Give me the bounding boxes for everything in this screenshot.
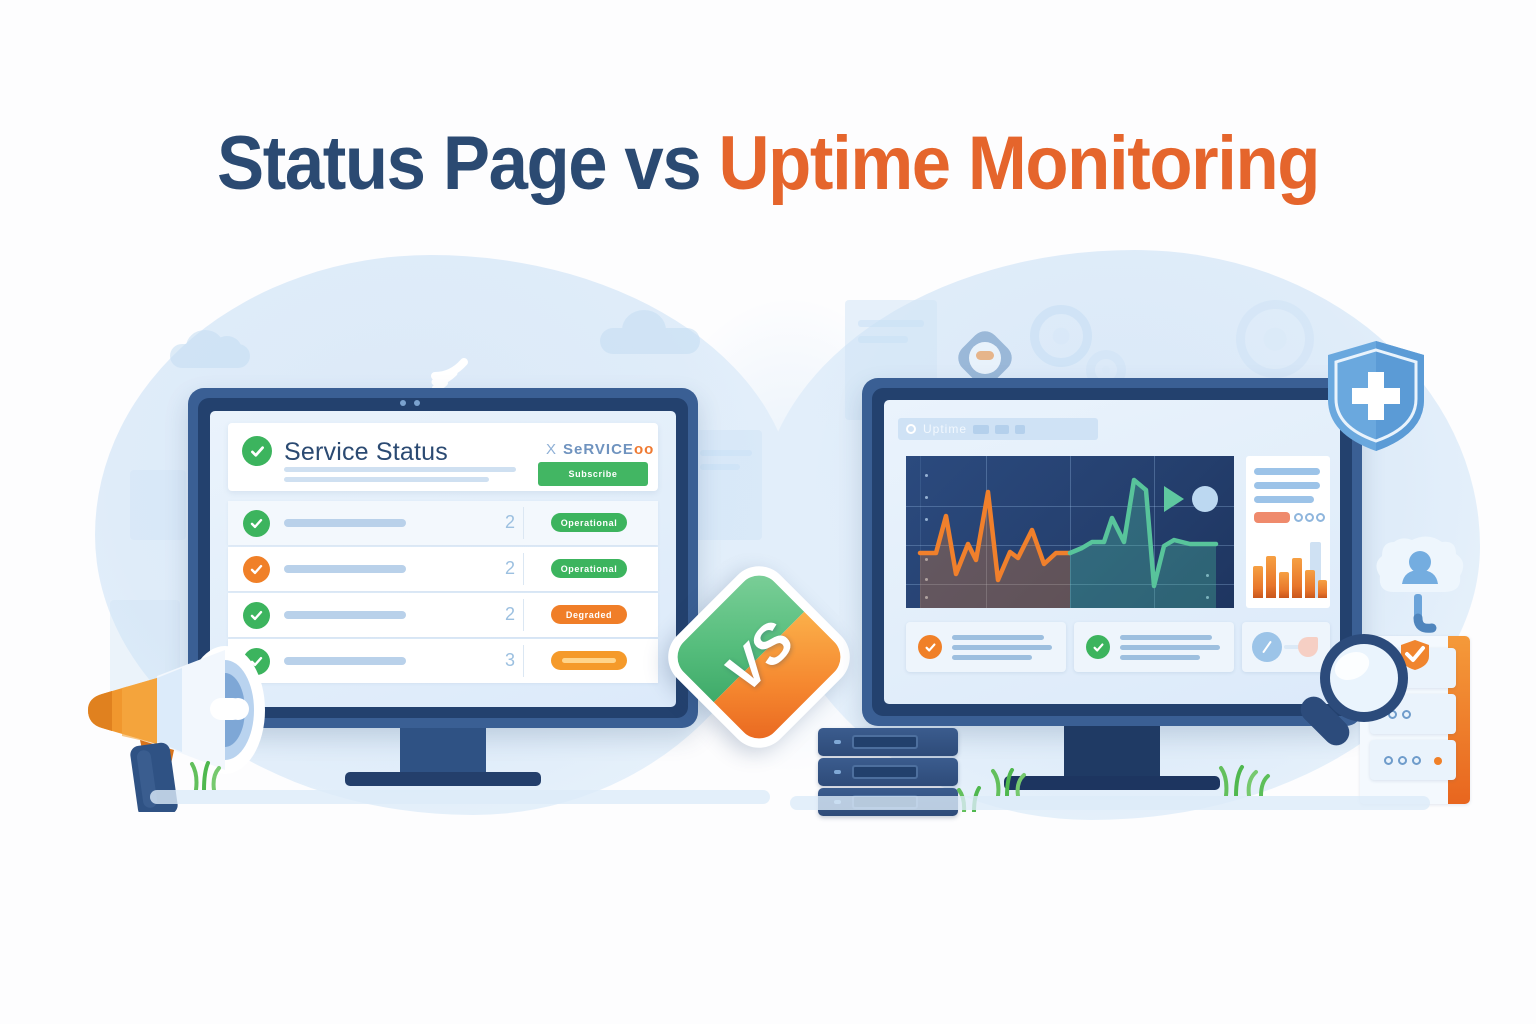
header-text-line [284, 477, 489, 482]
grass-decor [188, 760, 248, 790]
gear-icon [1236, 300, 1314, 378]
decor-square [130, 470, 186, 540]
row-divider [523, 553, 524, 585]
service-name-line [284, 611, 406, 619]
server-unit [818, 758, 958, 786]
mini-bar-chart-bar [1279, 572, 1289, 598]
dashboard-toolbar[interactable]: Uptime [898, 418, 1098, 440]
toolbar-segment [1015, 425, 1025, 434]
table-row[interactable]: 2 Operational [228, 501, 658, 545]
server-led [834, 770, 841, 774]
metric-card-lines [952, 635, 1052, 660]
subscribe-button[interactable]: Subscribe [538, 462, 648, 486]
server-slot [852, 765, 918, 779]
decor-line [858, 320, 924, 327]
status-badge: Operational [551, 513, 627, 532]
shield-health-icon [1324, 338, 1428, 454]
metric-card[interactable] [1074, 622, 1234, 672]
row-divider [523, 599, 524, 631]
monitor-neck [400, 728, 486, 774]
title-part-status-page: Status Page vs [217, 121, 719, 206]
row-metric: 2 [505, 604, 515, 625]
metric-card[interactable] [906, 622, 1066, 672]
sidebar-circle [1305, 513, 1314, 522]
metric-line [1120, 635, 1212, 640]
server-led [834, 740, 841, 744]
ground-band [150, 790, 770, 804]
server-slot [852, 735, 918, 749]
server-unit [818, 728, 958, 756]
gauge-needle [1262, 641, 1272, 654]
toolbar-label: Uptime [923, 422, 967, 436]
camera-dot [414, 400, 420, 406]
metric-card-lines [1120, 635, 1220, 660]
page-title: Status Page vs Uptime Monitoring [54, 120, 1482, 207]
play-triangle-icon[interactable] [1164, 486, 1184, 512]
sidebar-circle [1294, 513, 1303, 522]
toolbar-segment [973, 425, 989, 434]
service-name-line [284, 519, 406, 527]
service-status-card: Service Status XSeRVICEoo Subscribe [228, 423, 658, 491]
table-row[interactable]: 2 Degraded [228, 593, 658, 637]
cloud-icon [170, 330, 260, 368]
mini-bar-chart-bar [1253, 566, 1263, 598]
toolbar-segment [995, 425, 1009, 434]
service-status-title: Service Status [284, 438, 448, 467]
check-circle-orange-icon [918, 635, 942, 659]
illustration-canvas: Status Page vs Uptime Monitoring Service… [0, 0, 1536, 1024]
sidebar-circle [1316, 513, 1325, 522]
metric-line [952, 645, 1052, 650]
uptime-chart [906, 456, 1234, 608]
grass-decor [1216, 764, 1286, 796]
monitor-base [345, 772, 541, 786]
brand-name: SeRVICE [563, 441, 634, 458]
mini-bar-chart-bar [1305, 570, 1315, 598]
metric-line [952, 635, 1044, 640]
megaphone-icon [62, 632, 302, 812]
card-status-dot [1434, 757, 1442, 765]
badge-icon [962, 335, 1008, 381]
camera-dot [400, 400, 406, 406]
header-text-line [284, 467, 516, 472]
service-name-line [284, 565, 406, 573]
mini-bar-chart-bar [1292, 558, 1302, 598]
check-circle-green-icon [243, 602, 270, 629]
row-divider [523, 645, 524, 677]
row-metric: 2 [505, 558, 515, 579]
metric-line [1120, 645, 1220, 650]
service-brand-label: XSeRVICEoo [546, 441, 654, 458]
row-metric: 3 [505, 650, 515, 671]
check-circle-orange-icon [243, 556, 270, 583]
chart-sidebar-panel [1246, 456, 1330, 608]
mini-bar-chart-bar [1318, 580, 1327, 598]
cloud-icon [600, 310, 710, 354]
brand-x-mark: X [546, 441, 557, 458]
title-part-uptime-monitoring: Uptime Monitoring [719, 121, 1320, 206]
decor-line [858, 336, 908, 343]
check-circle-green-icon [1086, 635, 1110, 659]
chart-series-svg [906, 456, 1234, 608]
status-badge: Operational [551, 559, 627, 578]
table-row[interactable]: 2 Operational [228, 547, 658, 591]
gauge-icon [1252, 632, 1282, 662]
badge-progress [562, 658, 617, 663]
status-dot-icon [906, 424, 916, 434]
sidebar-alert-bar [1254, 512, 1290, 523]
check-circle-green-icon [243, 510, 270, 537]
row-metric: 2 [505, 512, 515, 533]
monitor-screen: Uptime [884, 400, 1340, 704]
status-badge: Degraded [551, 605, 627, 624]
metric-line [952, 655, 1032, 660]
decor-line [700, 450, 752, 456]
row-divider [523, 507, 524, 539]
service-name-line [284, 657, 406, 665]
ground-band [790, 796, 1430, 810]
gear-icon [1030, 305, 1092, 367]
check-circle-green-icon [242, 436, 272, 466]
decor-line [700, 464, 740, 470]
decor-square [690, 430, 762, 540]
status-badge [551, 651, 627, 670]
mini-bar-chart-bar [1266, 556, 1276, 598]
sidebar-bar [1254, 482, 1320, 489]
metric-line [1120, 655, 1200, 660]
monitor-neck [1064, 726, 1160, 778]
brand-suffix: oo [634, 441, 654, 458]
sidebar-bar [1254, 468, 1320, 475]
magnifier-icon[interactable] [1290, 620, 1422, 770]
sidebar-bar [1254, 496, 1314, 503]
play-dot-indicator [1192, 486, 1218, 512]
